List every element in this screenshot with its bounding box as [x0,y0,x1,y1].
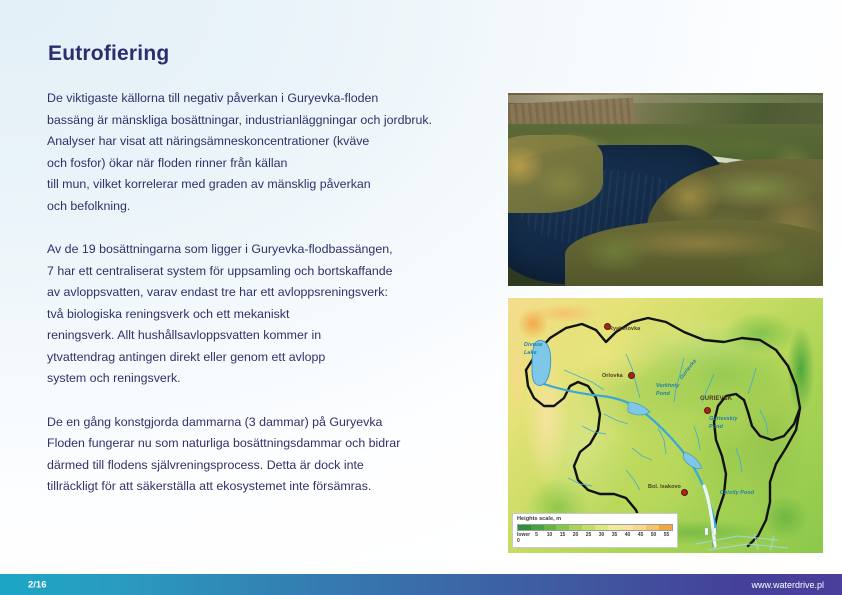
map-label-line: Verkhniy [656,383,679,389]
legend-tick: 40 [621,532,634,544]
photo-foreground-brush [565,220,823,286]
paragraph-3: De en gång konstgjorda dammarna (3 damma… [47,412,487,498]
text-line: system och reningsverk. [47,368,487,390]
map-dot-bol-isakovo [681,489,688,496]
slide-canvas: Eutrofiering De viktigaste källorna till… [0,0,842,595]
map-label-bol-isakovo: Bol. Isakovo [648,484,681,490]
legend-swatch [621,525,634,530]
paragraph-2: Av de 19 bosättningarna som ligger i Gur… [47,239,487,390]
legend-tick: 55 [660,532,673,544]
photo-left-shore [508,135,603,212]
footer-website-link[interactable]: www.waterdrive.pl [751,580,824,590]
body-text-column: De viktigaste källorna till negativ påve… [47,88,487,498]
legend-swatch [556,525,569,530]
text-line: till mun, vilket korrelerar med graden a… [47,174,487,196]
map-dam-marker-2 [713,528,716,535]
legend-tick: 35 [608,532,621,544]
legend-tick: lower 0 [517,532,530,544]
text-line: bassäng är mänskliga bosättningar, indus… [47,110,487,132]
legend-swatch [595,525,608,530]
map-dot-gurievsk [704,407,711,414]
map-urban-roads [696,534,788,551]
legend-tick: 50 [647,532,660,544]
text-line: Analyser har visat att näringsämneskonce… [47,131,487,153]
legend-tick: 5 [530,532,543,544]
legend-swatch [646,525,659,530]
aerial-photo [508,93,823,286]
legend-tick: 20 [569,532,582,544]
basin-map: Divnoe Lake Ryabinovka Orlovka Gurievka … [508,298,823,553]
text-line: De viktigaste källorna till negativ påve… [47,88,487,110]
text-line: två biologiska reningsverk och ett mekan… [47,304,487,326]
text-line: och befolkning. [47,196,487,218]
map-label-line: Pond [656,391,670,397]
text-line: tillräckligt för att säkerställa att eko… [47,476,487,498]
map-legend-colorbar [517,524,673,531]
legend-swatch [659,525,672,530]
page-title: Eutrofiering [48,42,169,66]
legend-tick: 25 [582,532,595,544]
map-legend: Heights scale, m lower 0 5 10 15 [512,513,678,549]
map-legend-title: Heights scale, m [517,516,673,522]
legend-tick: 15 [556,532,569,544]
map-gurievskiy-pond [683,452,702,469]
map-label-divnoe-lake: Divnoe Lake [524,341,543,357]
map-label-line: Lake [524,350,537,356]
legend-swatch [569,525,582,530]
legend-swatch [544,525,557,530]
legend-swatch [518,525,531,530]
legend-tick: 10 [543,532,556,544]
map-label-gurievsk: GURIEVSK [700,396,732,402]
legend-swatch [608,525,621,530]
text-line: De en gång konstgjorda dammarna (3 damma… [47,412,487,434]
legend-swatch [582,525,595,530]
text-line: Av de 19 bosättningarna som ligger i Gur… [47,239,487,261]
text-line: därmed till flodens självreningsprocess.… [47,455,487,477]
text-line: och fosfor) ökar när floden rinner från … [47,153,487,175]
text-line: av avloppsvatten, varav endast tre har e… [47,282,487,304]
text-line: ytvattendrag antingen direkt eller genom… [47,347,487,369]
map-verkhniy-pond [628,402,650,415]
map-label-verkhniy-pond: Verkhniy Pond [656,382,679,398]
map-label-gurievskiy-pond: Gurievskiy Pond [709,415,738,431]
legend-tick: 30 [595,532,608,544]
map-label-orlovka: Orlovka [602,373,623,379]
page-number: 2/16 [28,579,47,590]
map-label-ryabinovka: Ryabinovka [609,326,640,332]
text-line: Floden fungerar nu som naturliga bosättn… [47,433,487,455]
map-dot-orlovka [628,372,635,379]
paragraph-1: De viktigaste källorna till negativ påve… [47,88,487,217]
map-label-line: Gurievskiy [709,416,738,422]
legend-tick: 45 [634,532,647,544]
text-line: reningsverk. Allt hushållsavloppsvatten … [47,325,487,347]
footer-bar: 2/16 www.waterdrive.pl [0,574,842,595]
text-line: 7 har ett centraliserat system för uppsa… [47,261,487,283]
map-label-chistly-pond: Chistly Pond [720,490,754,496]
map-dam-marker-1 [705,528,708,535]
map-label-line: Pond [709,424,723,430]
map-label-line: Divnoe [524,342,543,348]
legend-swatch [633,525,646,530]
legend-swatch [531,525,544,530]
map-legend-ticks: lower 0 5 10 15 20 25 30 35 40 45 50 55 [517,532,673,544]
